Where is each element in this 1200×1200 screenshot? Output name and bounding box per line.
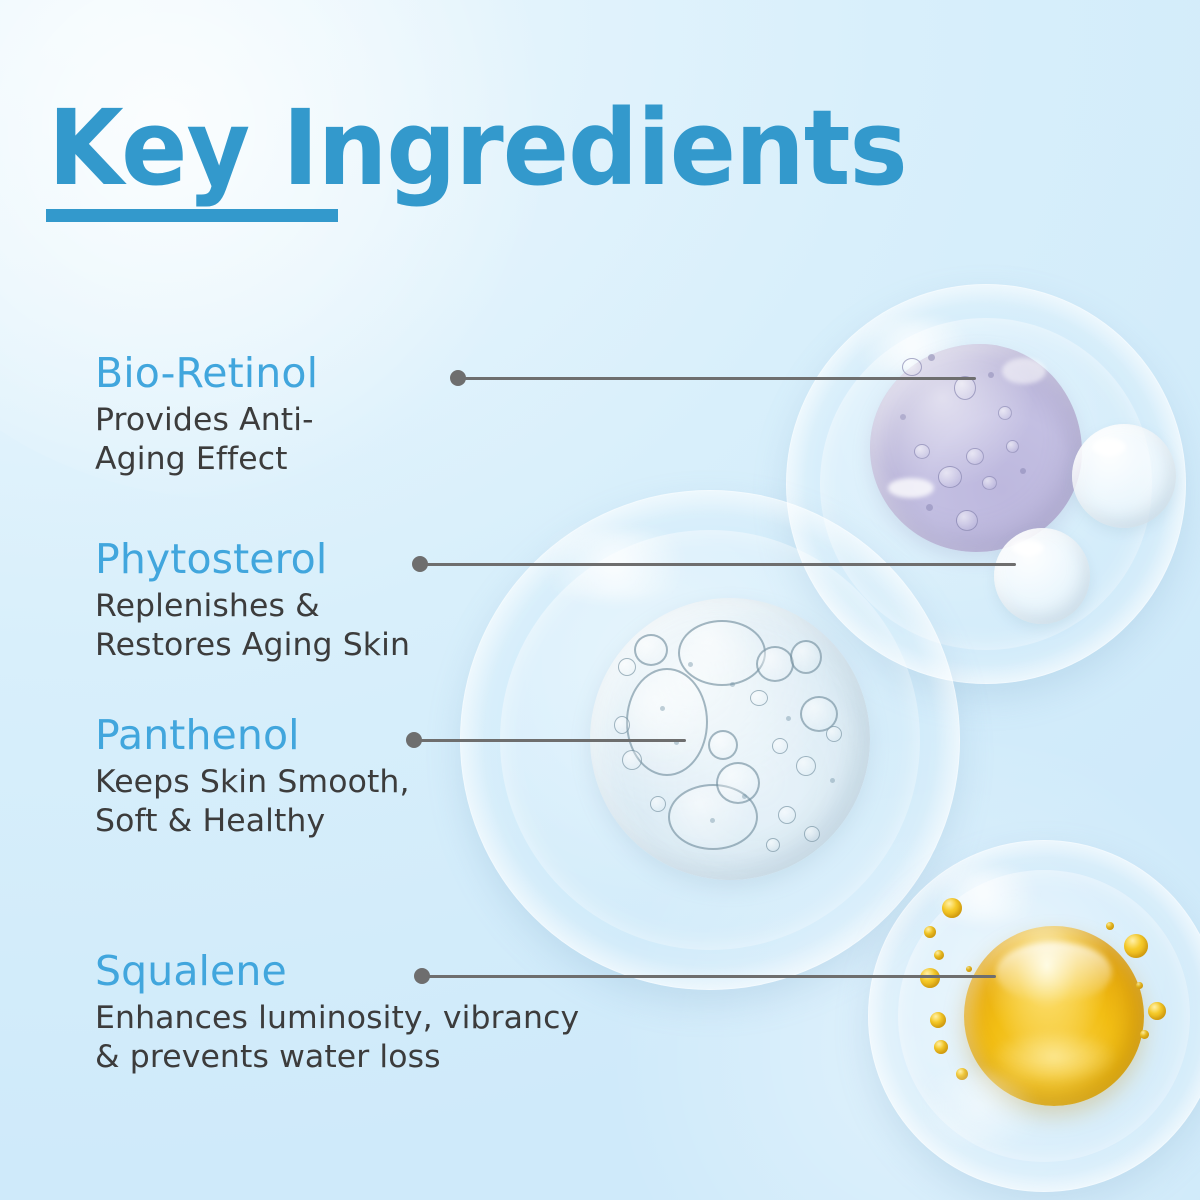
gold-bubble: [1140, 1030, 1149, 1039]
petri-dish-squalene: [868, 840, 1200, 1192]
clear-droplet: [994, 528, 1090, 624]
dish-specular-highlight: [914, 868, 1054, 922]
gel-bubble: [1006, 440, 1019, 453]
ingredient-item-phytosterol: Phytosterol Replenishes & Restores Aging…: [95, 538, 410, 664]
gel-bubble: [708, 730, 738, 760]
gel-bubble: [988, 372, 994, 378]
gel-bubble: [966, 448, 984, 465]
page-title: Key Ingredients: [48, 96, 907, 200]
gel-highlight: [1002, 358, 1046, 384]
gold-bubble: [924, 926, 936, 938]
gel-bubble: [756, 646, 794, 682]
gel-bubble: [938, 466, 962, 488]
dish-bottom-sheen: [904, 1072, 1054, 1142]
gel-bubble: [772, 738, 788, 754]
gel-bubble: [634, 634, 668, 666]
ingredient-description: Provides Anti- Aging Effect: [95, 401, 318, 478]
gel-bubble: [926, 504, 933, 511]
gel-highlight: [888, 478, 934, 498]
gold-bubble: [1106, 922, 1114, 930]
clear-droplet: [1072, 424, 1176, 528]
ingredient-description: Enhances luminosity, vibrancy & prevents…: [95, 999, 579, 1076]
gel-bubble: [750, 690, 768, 706]
clear-gel-blob: [590, 598, 870, 880]
ingredient-name: Panthenol: [95, 714, 410, 757]
ingredient-item-bio-retinol: Bio-Retinol Provides Anti- Aging Effect: [95, 352, 318, 478]
gold-bubble: [920, 968, 940, 988]
gel-bubble: [790, 640, 822, 674]
droplet-highlight: [1012, 540, 1044, 556]
gel-bubble: [830, 778, 835, 783]
gel-bubble: [614, 716, 630, 734]
gel-bubble: [742, 794, 747, 799]
gel-bubble: [716, 762, 760, 804]
leader-dot-icon: [412, 556, 428, 572]
ingredient-name: Squalene: [95, 950, 579, 993]
ingredient-name: Bio-Retinol: [95, 352, 318, 395]
gel-bubble: [956, 510, 978, 531]
gold-bubble: [966, 966, 972, 972]
droplet-highlight: [1092, 438, 1126, 456]
gel-bubble: [660, 706, 665, 711]
gel-bubble: [688, 662, 693, 667]
gel-bubble: [778, 806, 796, 824]
gel-bubble: [902, 358, 922, 376]
gold-bubble: [930, 1012, 946, 1028]
ingredient-name: Phytosterol: [95, 538, 410, 581]
gel-bubble: [786, 716, 791, 721]
gel-bubble: [796, 756, 816, 776]
gel-bubble: [982, 476, 997, 490]
leader-dot-icon: [450, 370, 466, 386]
gold-bubble: [1148, 1002, 1166, 1020]
gold-bubble: [934, 1040, 948, 1054]
gel-bubble: [928, 354, 935, 361]
gel-bubble: [826, 726, 842, 742]
gel-bubble: [650, 796, 666, 812]
gel-bubble: [678, 620, 766, 686]
dish-specular-highlight: [520, 530, 710, 600]
gold-bubble: [942, 898, 962, 918]
ingredient-item-panthenol: Panthenol Keeps Skin Smooth, Soft & Heal…: [95, 714, 410, 840]
gold-bubble: [1124, 934, 1148, 958]
gel-bubble: [710, 818, 715, 823]
gel-bubble: [954, 376, 976, 400]
gel-bubble: [674, 740, 679, 745]
oil-highlight-top: [996, 942, 1111, 1003]
gel-bubble: [914, 444, 930, 459]
title-block: Key Ingredients: [48, 96, 962, 200]
gel-bubble: [622, 750, 642, 770]
ingredient-item-squalene: Squalene Enhances luminosity, vibrancy &…: [95, 950, 579, 1076]
infographic-canvas: Key Ingredients Bio-Retinol Provides Ant…: [0, 0, 1200, 1200]
gel-bubble: [766, 838, 780, 852]
gel-bubble: [998, 406, 1012, 420]
gel-bubble: [804, 826, 820, 842]
title-underline: [46, 209, 338, 222]
gold-bubble: [1136, 982, 1143, 989]
petri-dish-panthenol: [460, 490, 960, 990]
lavender-gel-blob: [870, 344, 1082, 552]
gel-bubble: [900, 414, 906, 420]
gel-bubble: [730, 682, 735, 687]
ingredient-description: Replenishes & Restores Aging Skin: [95, 587, 410, 664]
gel-bubble: [1020, 468, 1026, 474]
gel-bubble: [618, 658, 636, 676]
gold-bubble: [934, 950, 944, 960]
ingredient-description: Keeps Skin Smooth, Soft & Healthy: [95, 763, 410, 840]
